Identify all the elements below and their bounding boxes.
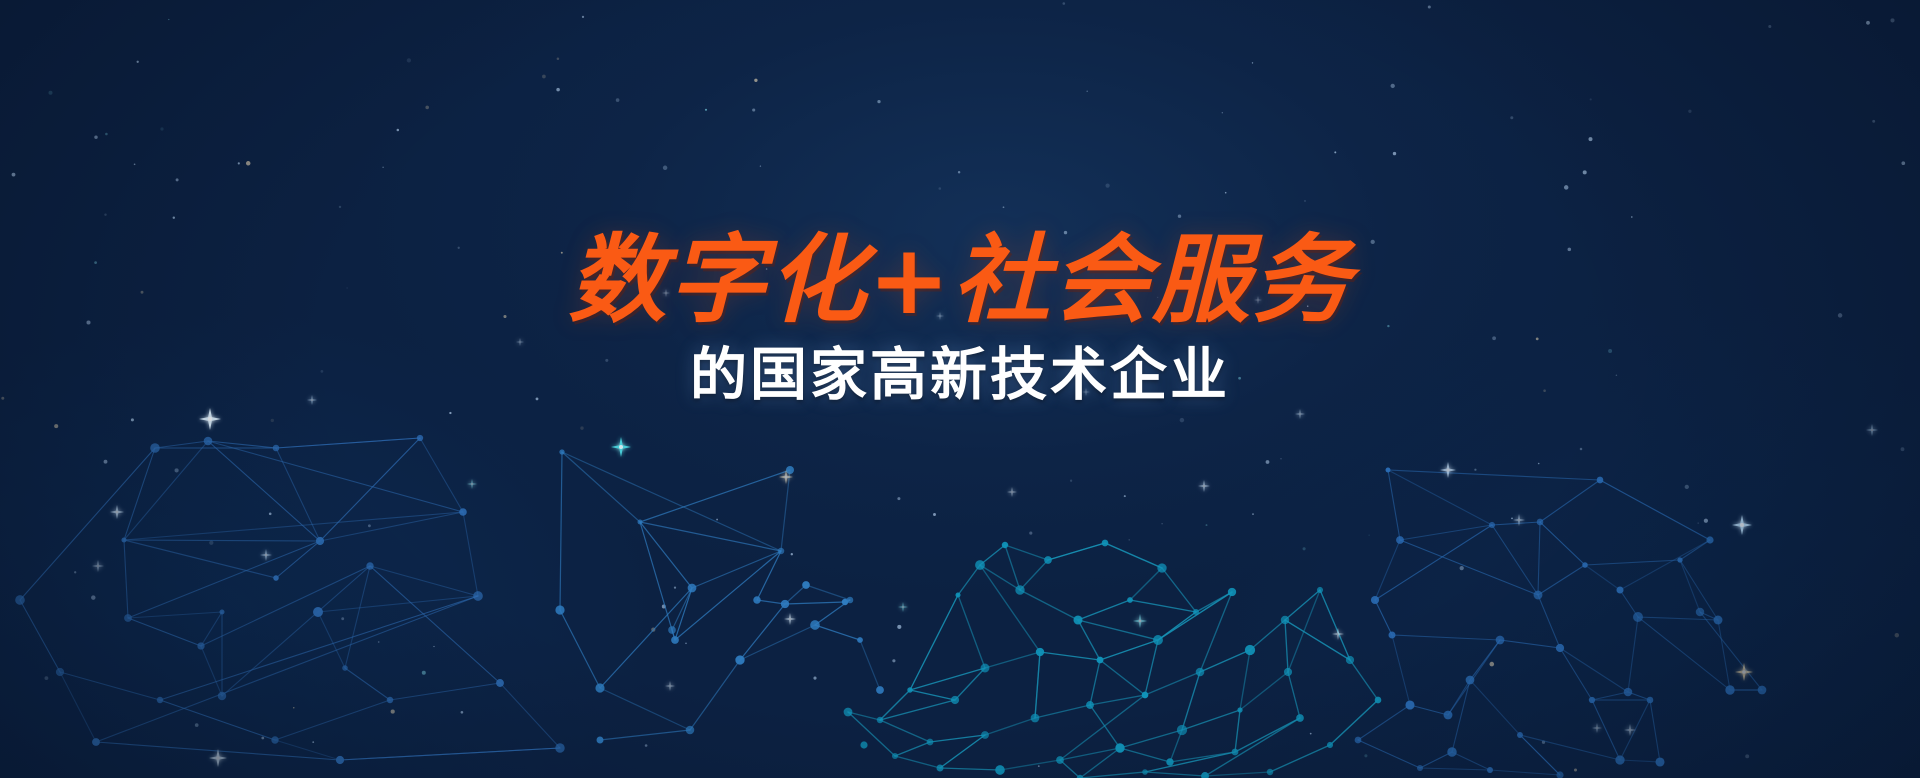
hero-subtitle: 的国家高新技术企业	[0, 344, 1920, 407]
hero-banner: 数字化+社会服务 的国家高新技术企业	[0, 0, 1920, 778]
hero-text-block: 数字化+社会服务 的国家高新技术企业	[0, 232, 1920, 407]
hero-headline: 数字化+社会服务	[0, 232, 1920, 328]
